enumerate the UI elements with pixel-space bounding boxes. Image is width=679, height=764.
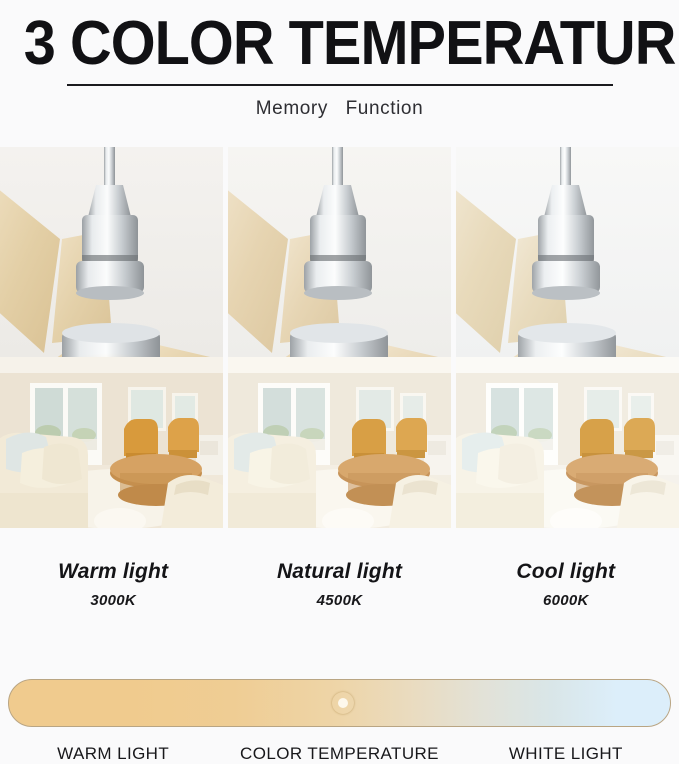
ceiling-fan-warm-illustration <box>0 147 223 528</box>
caption-cool-name: Cool light <box>453 560 679 584</box>
subtitle: Memory Function <box>0 98 679 120</box>
photo-panel-natural <box>228 147 451 528</box>
caption-natural: Natural light 4500K <box>226 560 452 609</box>
page-title: 3 COLOR TEMPERATURE <box>24 4 655 78</box>
legend-warm-light: WARM LIGHT <box>0 744 226 764</box>
slider-knob[interactable] <box>332 692 354 714</box>
title-divider <box>67 84 613 86</box>
caption-cool: Cool light 6000K <box>453 560 679 609</box>
legend-color-temperature: COLOR TEMPERATURE <box>226 744 452 764</box>
legend-white-light: WHITE LIGHT <box>453 744 679 764</box>
caption-cool-kelvin: 6000K <box>453 592 679 609</box>
caption-warm: Warm light 3000K <box>0 560 226 609</box>
caption-row: Warm light 3000K Natural light 4500K Coo… <box>0 560 679 609</box>
ceiling-fan-cool-illustration <box>456 147 679 528</box>
header: 3 COLOR TEMPERATURE Memory Function <box>0 0 679 120</box>
ceiling-fan-natural-illustration <box>228 147 451 528</box>
photo-strip <box>0 147 679 528</box>
caption-warm-name: Warm light <box>0 560 226 584</box>
photo-panel-cool <box>456 147 679 528</box>
caption-warm-kelvin: 3000K <box>0 592 226 609</box>
color-temperature-slider[interactable] <box>8 679 671 727</box>
photo-panel-warm <box>0 147 223 528</box>
caption-natural-name: Natural light <box>226 560 452 584</box>
caption-natural-kelvin: 4500K <box>226 592 452 609</box>
slider-legend: WARM LIGHT COLOR TEMPERATURE WHITE LIGHT <box>0 744 679 764</box>
